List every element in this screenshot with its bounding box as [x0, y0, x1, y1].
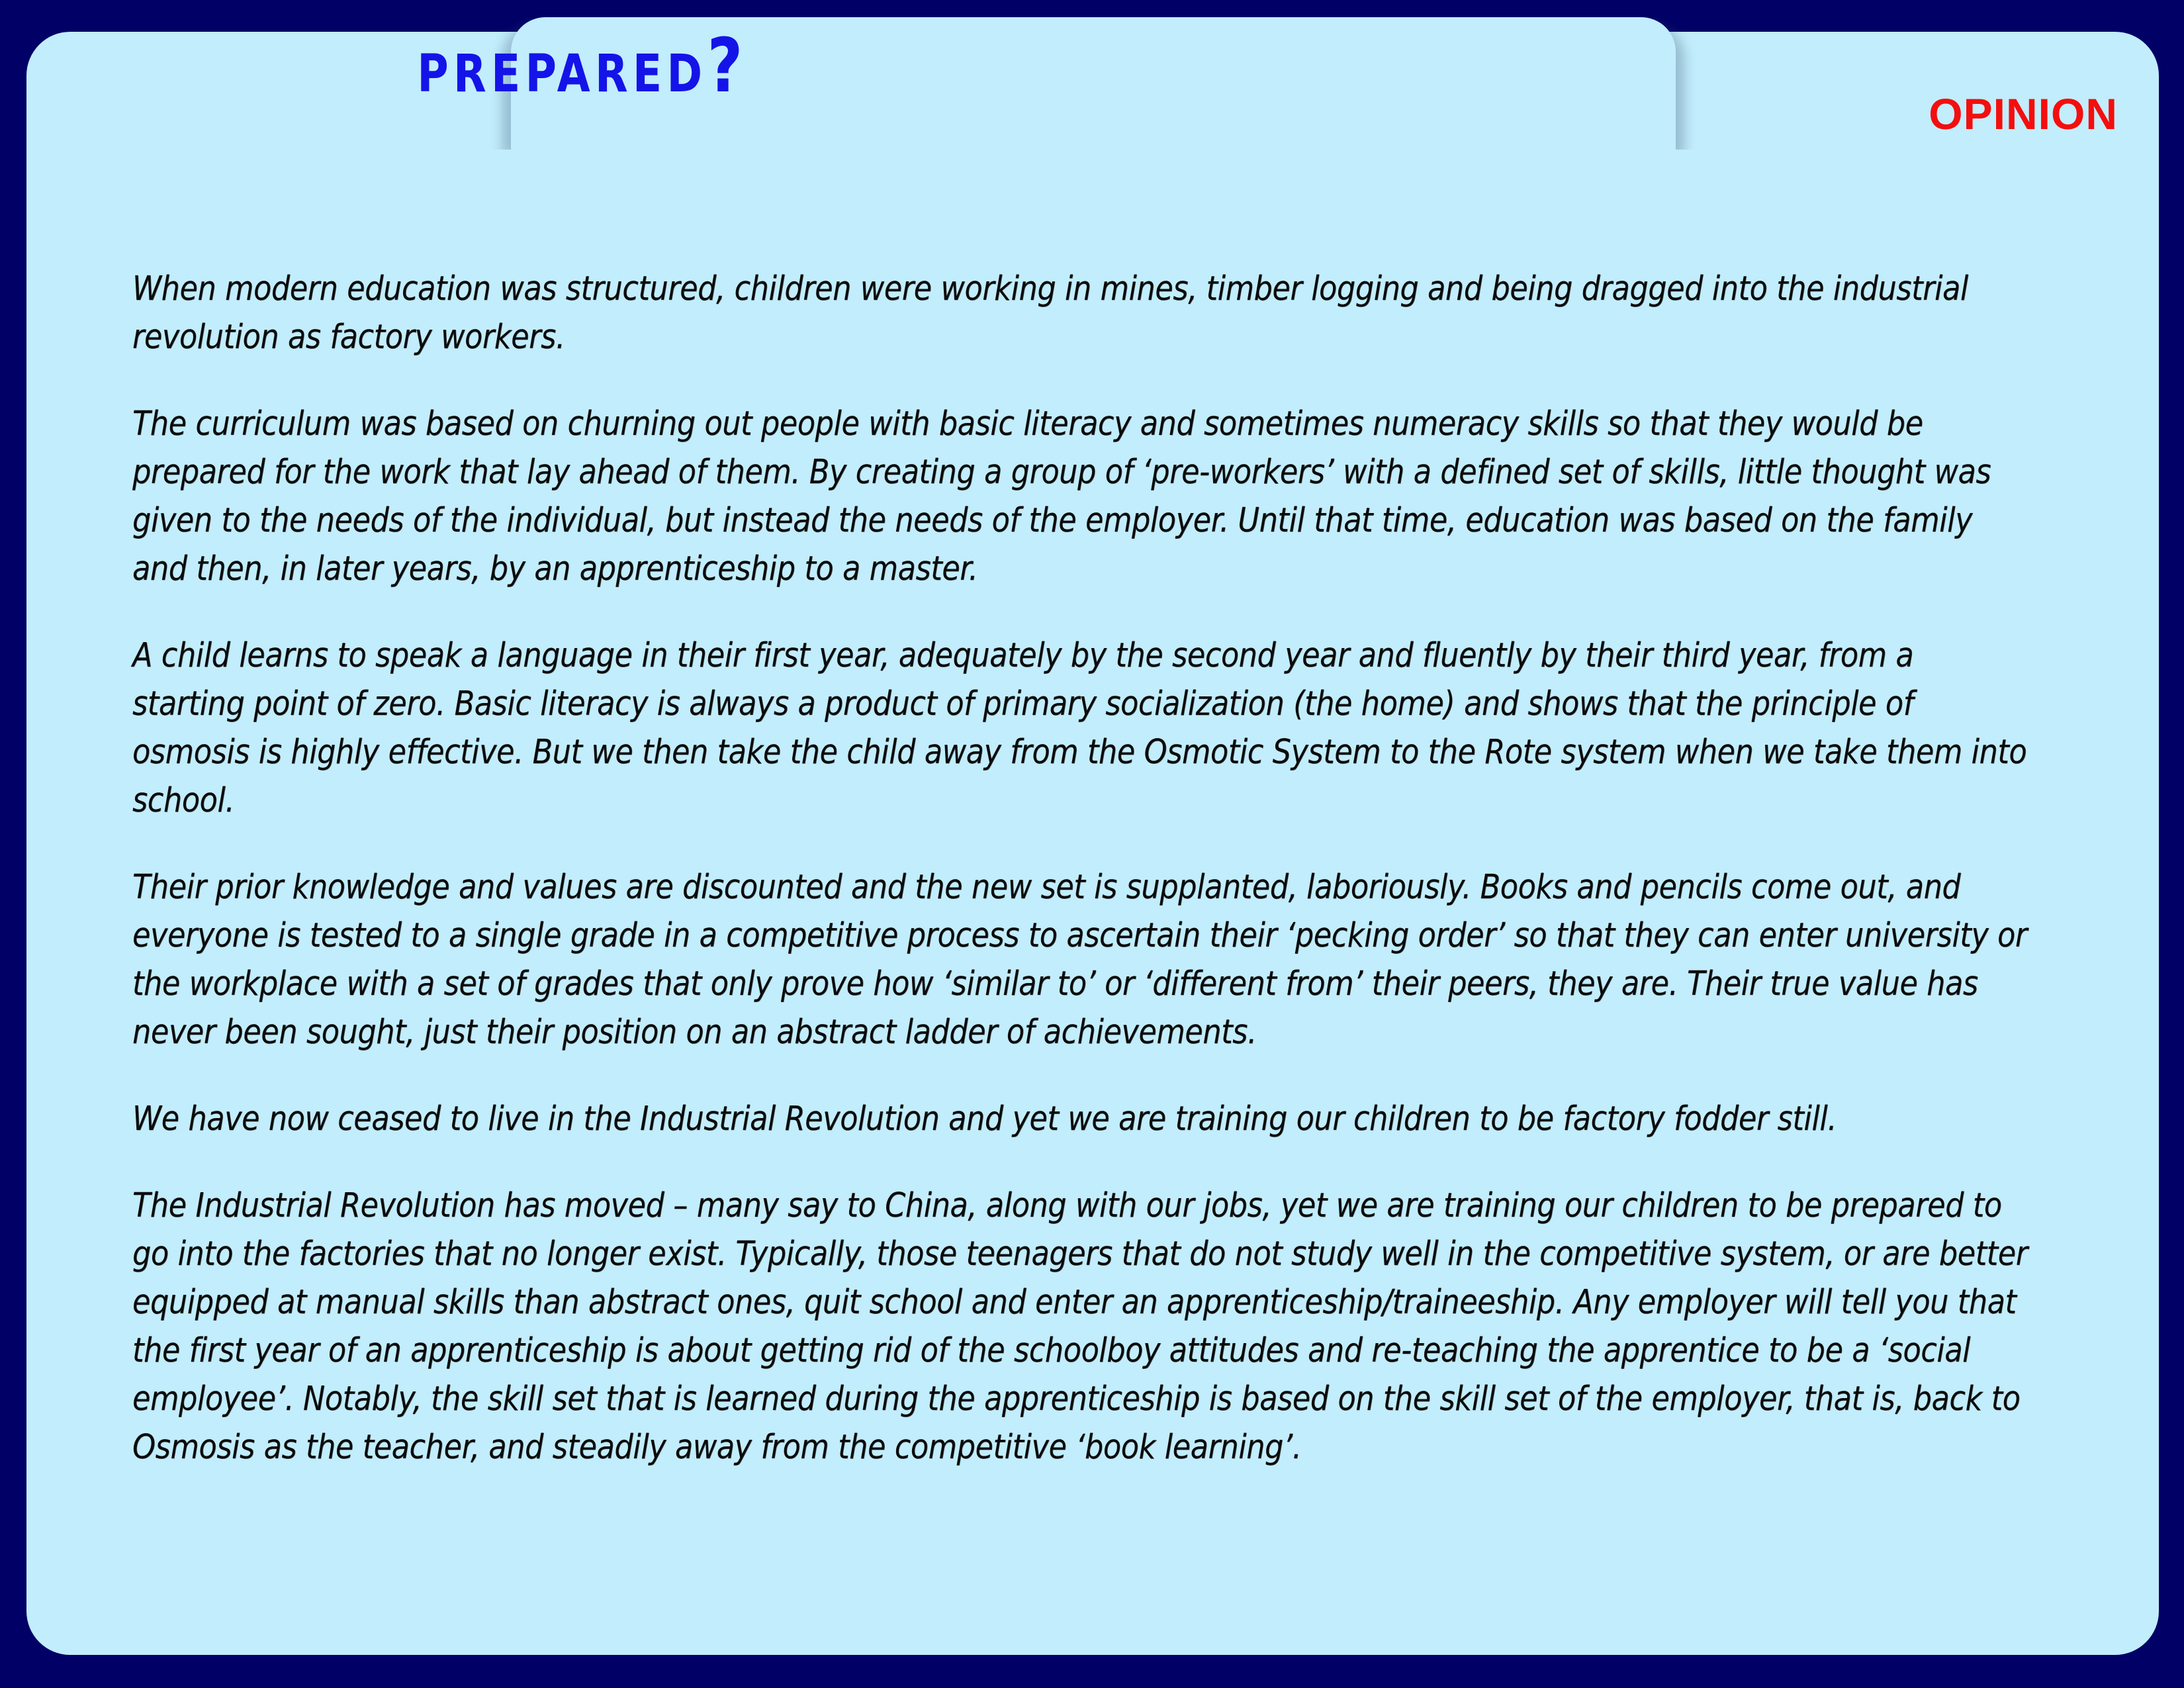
- category-badge-opinion: OPINION: [1929, 89, 2118, 139]
- article-paragraph: The curriculum was based on churning out…: [132, 400, 2032, 593]
- article-paragraph: A child learns to speak a language in th…: [132, 632, 2032, 825]
- banner-shadow-mask: [26, 150, 2159, 256]
- article-paragraph: The Industrial Revolution has moved – ma…: [132, 1182, 2032, 1472]
- article-body: When modern education was structured, ch…: [132, 265, 2091, 1472]
- article-paragraph: We have now ceased to live in the Indust…: [132, 1095, 2032, 1143]
- article-paragraph: When modern education was structured, ch…: [132, 265, 2032, 361]
- article-paragraph: Their prior knowledge and values are dis…: [132, 863, 2032, 1056]
- page-root: Prepared? OPINION When modern education …: [0, 0, 2184, 1688]
- page-title: Prepared?: [46, 0, 1118, 132]
